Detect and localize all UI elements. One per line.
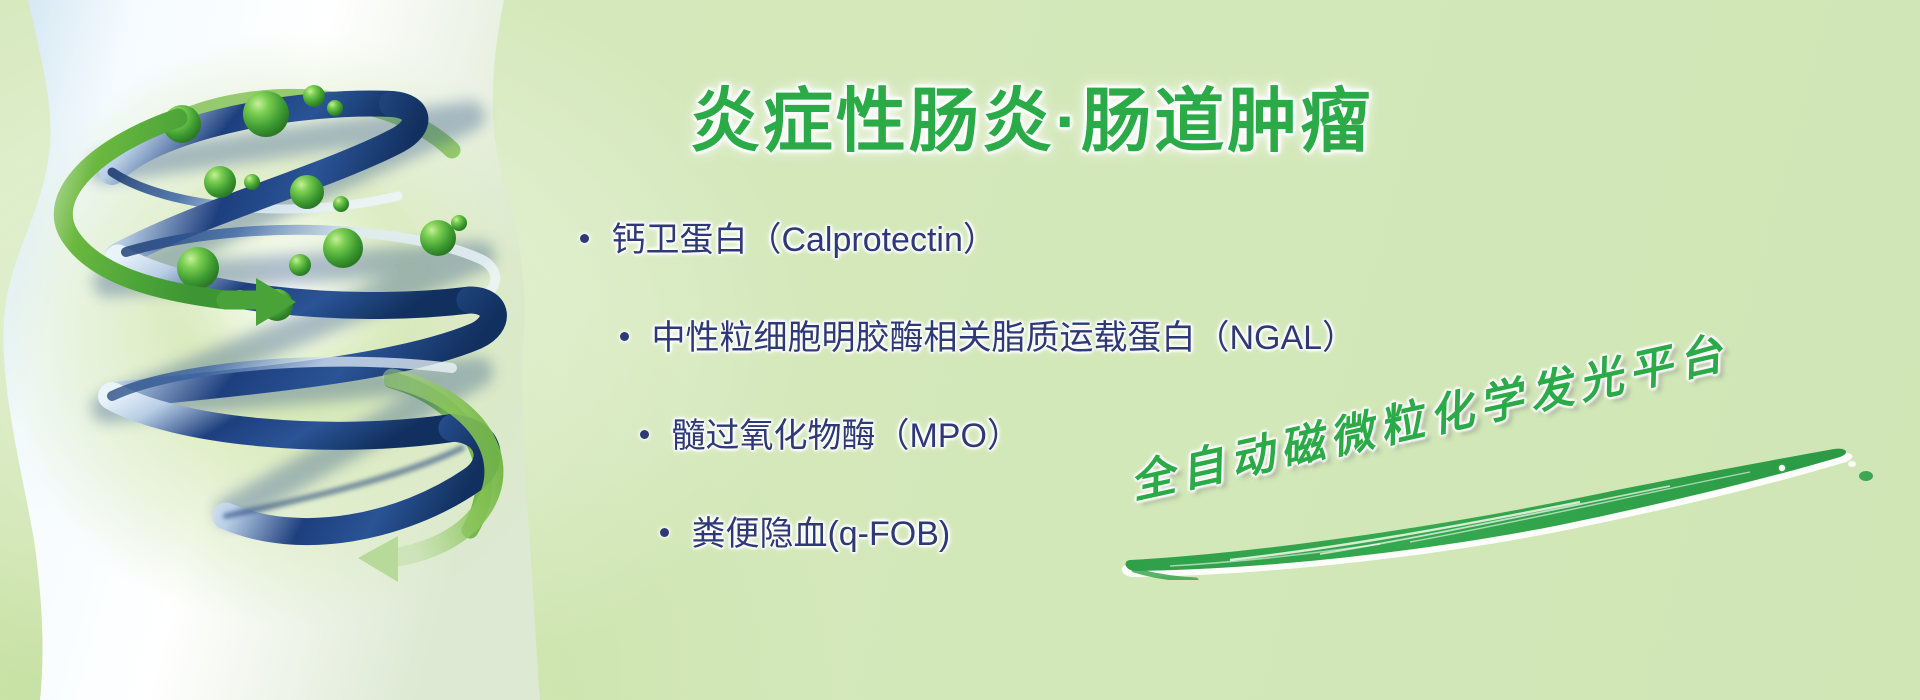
page-title: 炎症性肠炎·肠道肿瘤 — [690, 78, 1330, 164]
banner-root: 炎症性肠炎·肠道肿瘤 钙卫蛋白（Calprotectin） 中性粒细胞明胶酶相关… — [0, 0, 1920, 700]
bullet-dot-icon — [620, 332, 629, 341]
bullet-dot-icon — [660, 528, 669, 537]
list-item-label: 钙卫蛋白（Calprotectin） — [611, 221, 996, 259]
bullet-dot-icon — [640, 430, 649, 439]
list-item-label: 中性粒细胞明胶酶相关脂质运载蛋白（NGAL） — [651, 319, 1356, 357]
list-item-label: 粪便隐血(q-FOB) — [691, 515, 950, 553]
list-item-label: 髓过氧化物酶（MPO） — [671, 417, 1020, 455]
torso-intestine-illustration — [0, 0, 560, 700]
list-item: 钙卫蛋白（Calprotectin） — [580, 190, 1900, 288]
bullet-dot-icon — [580, 234, 589, 243]
slogan-block: 全自动磁微粒化学发光平台 — [1110, 370, 1910, 580]
